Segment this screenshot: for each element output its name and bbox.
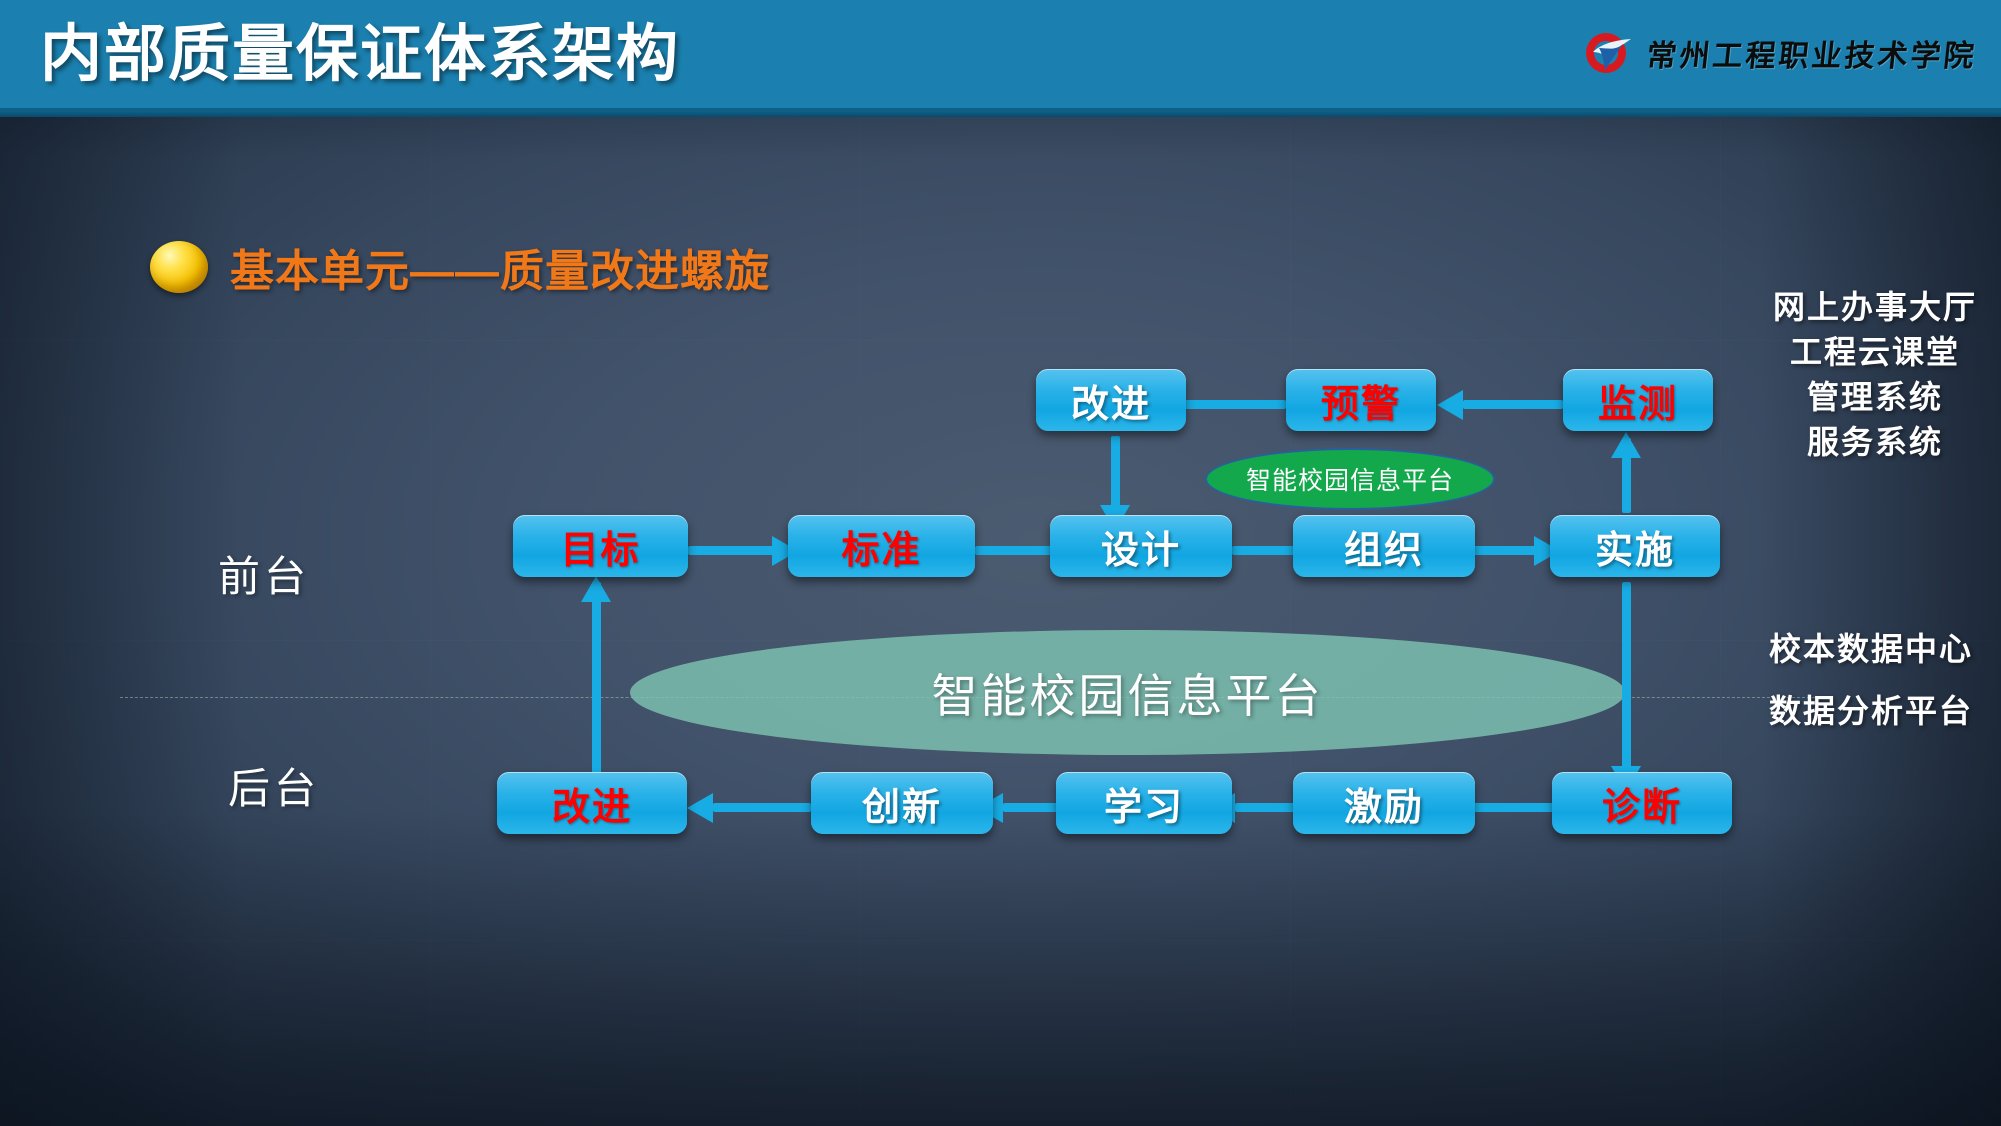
node-mid-zuzhi[interactable]: 组织: [1293, 515, 1475, 577]
side-list-bottom-item: 数据分析平台: [1769, 680, 1973, 742]
side-list-top-item: 管理系统: [1773, 375, 1977, 420]
platform-ellipse-large: 智能校园信息平台: [630, 630, 1625, 755]
brand-logo: 常州工程职业技术学院: [1579, 30, 1977, 76]
platform-ellipse-small: 智能校园信息平台: [1205, 448, 1495, 510]
node-label: 组织: [1344, 519, 1424, 574]
side-list-top-item: 工程云课堂: [1773, 330, 1977, 375]
arrow-chuangxin-to-gaijin: [687, 793, 713, 823]
stage-label-back: 后台: [228, 755, 320, 816]
swoosh-emblem-icon: [1579, 30, 1633, 76]
node-label: 激励: [1344, 776, 1424, 831]
side-list-top: 网上办事大厅 工程云课堂 管理系统 服务系统: [1773, 285, 1977, 465]
node-mid-shishi[interactable]: 实施: [1550, 515, 1720, 577]
connector-yujing-to-gaijin: [1178, 400, 1286, 409]
node-label: 预警: [1321, 373, 1401, 428]
node-top-yujing[interactable]: 预警: [1286, 369, 1436, 431]
node-label: 监测: [1598, 373, 1678, 428]
side-list-bottom: 校本数据中心 数据分析平台: [1769, 618, 1973, 742]
side-list-top-item: 服务系统: [1773, 420, 1977, 465]
connector-shishi-to-zhenduan: [1622, 582, 1631, 774]
arrow-jiance-to-yujing: [1437, 390, 1463, 420]
header-accent-bar: [0, 112, 2001, 117]
brand-name: 常州工程职业技术学院: [1645, 31, 1980, 75]
page-title: 内部质量保证体系架构: [40, 16, 680, 94]
node-mid-biaozhun[interactable]: 标准: [788, 515, 975, 577]
platform-ellipse-large-label: 智能校园信息平台: [932, 660, 1324, 726]
node-bot-chuangxin[interactable]: 创新: [811, 772, 993, 834]
node-mid-sheji[interactable]: 设计: [1050, 515, 1232, 577]
slide-header: 内部质量保证体系架构 常州工程职业技术学院: [0, 0, 2001, 112]
node-label: 创新: [862, 776, 942, 831]
side-list-top-item: 网上办事大厅: [1773, 285, 1977, 330]
bullet-heading-text: 基本单元——质量改进螺旋: [230, 235, 770, 299]
connector-jiance-to-yujing: [1463, 400, 1563, 409]
node-label: 目标: [560, 519, 640, 574]
node-bot-jili[interactable]: 激励: [1293, 772, 1475, 834]
node-bot-gaijin[interactable]: 改进: [497, 772, 687, 834]
node-bot-zhenduan[interactable]: 诊断: [1552, 772, 1732, 834]
node-label: 设计: [1101, 519, 1181, 574]
arrow-shishi-to-jiance: [1611, 432, 1641, 458]
connector-gaijin-to-mubiao: [592, 582, 601, 774]
connector-chuangxin-to-gaijin: [713, 803, 811, 812]
arrow-gaijin-to-mubiao: [581, 576, 611, 602]
side-list-bottom-item: 校本数据中心: [1769, 618, 1973, 680]
slide-canvas: 内部质量保证体系架构 常州工程职业技术学院 基本单元——质量改进螺旋 前台 后台…: [0, 0, 2001, 1126]
connector-gaijin-to-sheji: [1111, 436, 1120, 511]
node-label: 实施: [1595, 519, 1675, 574]
node-top-gaijin[interactable]: 改进: [1036, 369, 1186, 431]
connector-zhenduan-to-jili: [1463, 803, 1563, 812]
node-mid-mubiao[interactable]: 目标: [513, 515, 688, 577]
node-label: 改进: [1071, 373, 1151, 428]
bullet-heading: 基本单元——质量改进螺旋: [150, 235, 770, 299]
node-label: 改进: [552, 776, 632, 831]
node-bot-xuexi[interactable]: 学习: [1056, 772, 1232, 834]
node-label: 标准: [841, 519, 921, 574]
gold-sphere-bullet-icon: [150, 241, 208, 293]
stage-label-front: 前台: [218, 543, 310, 604]
node-label: 诊断: [1602, 776, 1682, 831]
node-top-jiance[interactable]: 监测: [1563, 369, 1713, 431]
platform-ellipse-small-label: 智能校园信息平台: [1246, 461, 1454, 497]
node-label: 学习: [1104, 776, 1184, 831]
